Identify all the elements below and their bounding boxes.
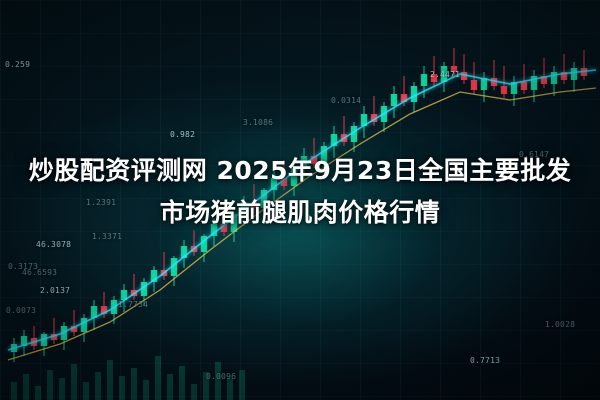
headline: 炒股配资评测网 2025年9月23日全国主要批发 市场猪前腿肌肉价格行情 <box>0 150 600 234</box>
chart-axis-label: 46.3078 <box>36 240 71 249</box>
chart-axis-label: 3.1086 <box>243 118 273 127</box>
chart-axis-label: 2.0137 <box>40 286 70 295</box>
chart-axis-label: 0.0314 <box>331 96 361 105</box>
chart-axis-label: 0.259 <box>5 60 30 69</box>
chart-axis-label: 0.982 <box>170 130 195 139</box>
chart-axis-label: 1.7734 <box>118 300 148 309</box>
chart-axis-label: 0.0096 <box>206 372 236 381</box>
chart-axis-label: 0.0073 <box>6 306 36 315</box>
headline-line-1: 炒股配资评测网 2025年9月23日全国主要批发 <box>29 156 571 185</box>
screenshot-root: 0.2591.23911.337146.30780.317346.65932.0… <box>0 0 600 400</box>
chart-axis-label: 2.4471 <box>430 70 460 79</box>
chart-axis-label: 46.6593 <box>22 268 57 277</box>
chart-axis-label: 1.0028 <box>545 320 575 329</box>
chart-axis-label: 0.7713 <box>470 356 500 365</box>
headline-line-2: 市场猪前腿肌肉价格行情 <box>14 192 586 234</box>
